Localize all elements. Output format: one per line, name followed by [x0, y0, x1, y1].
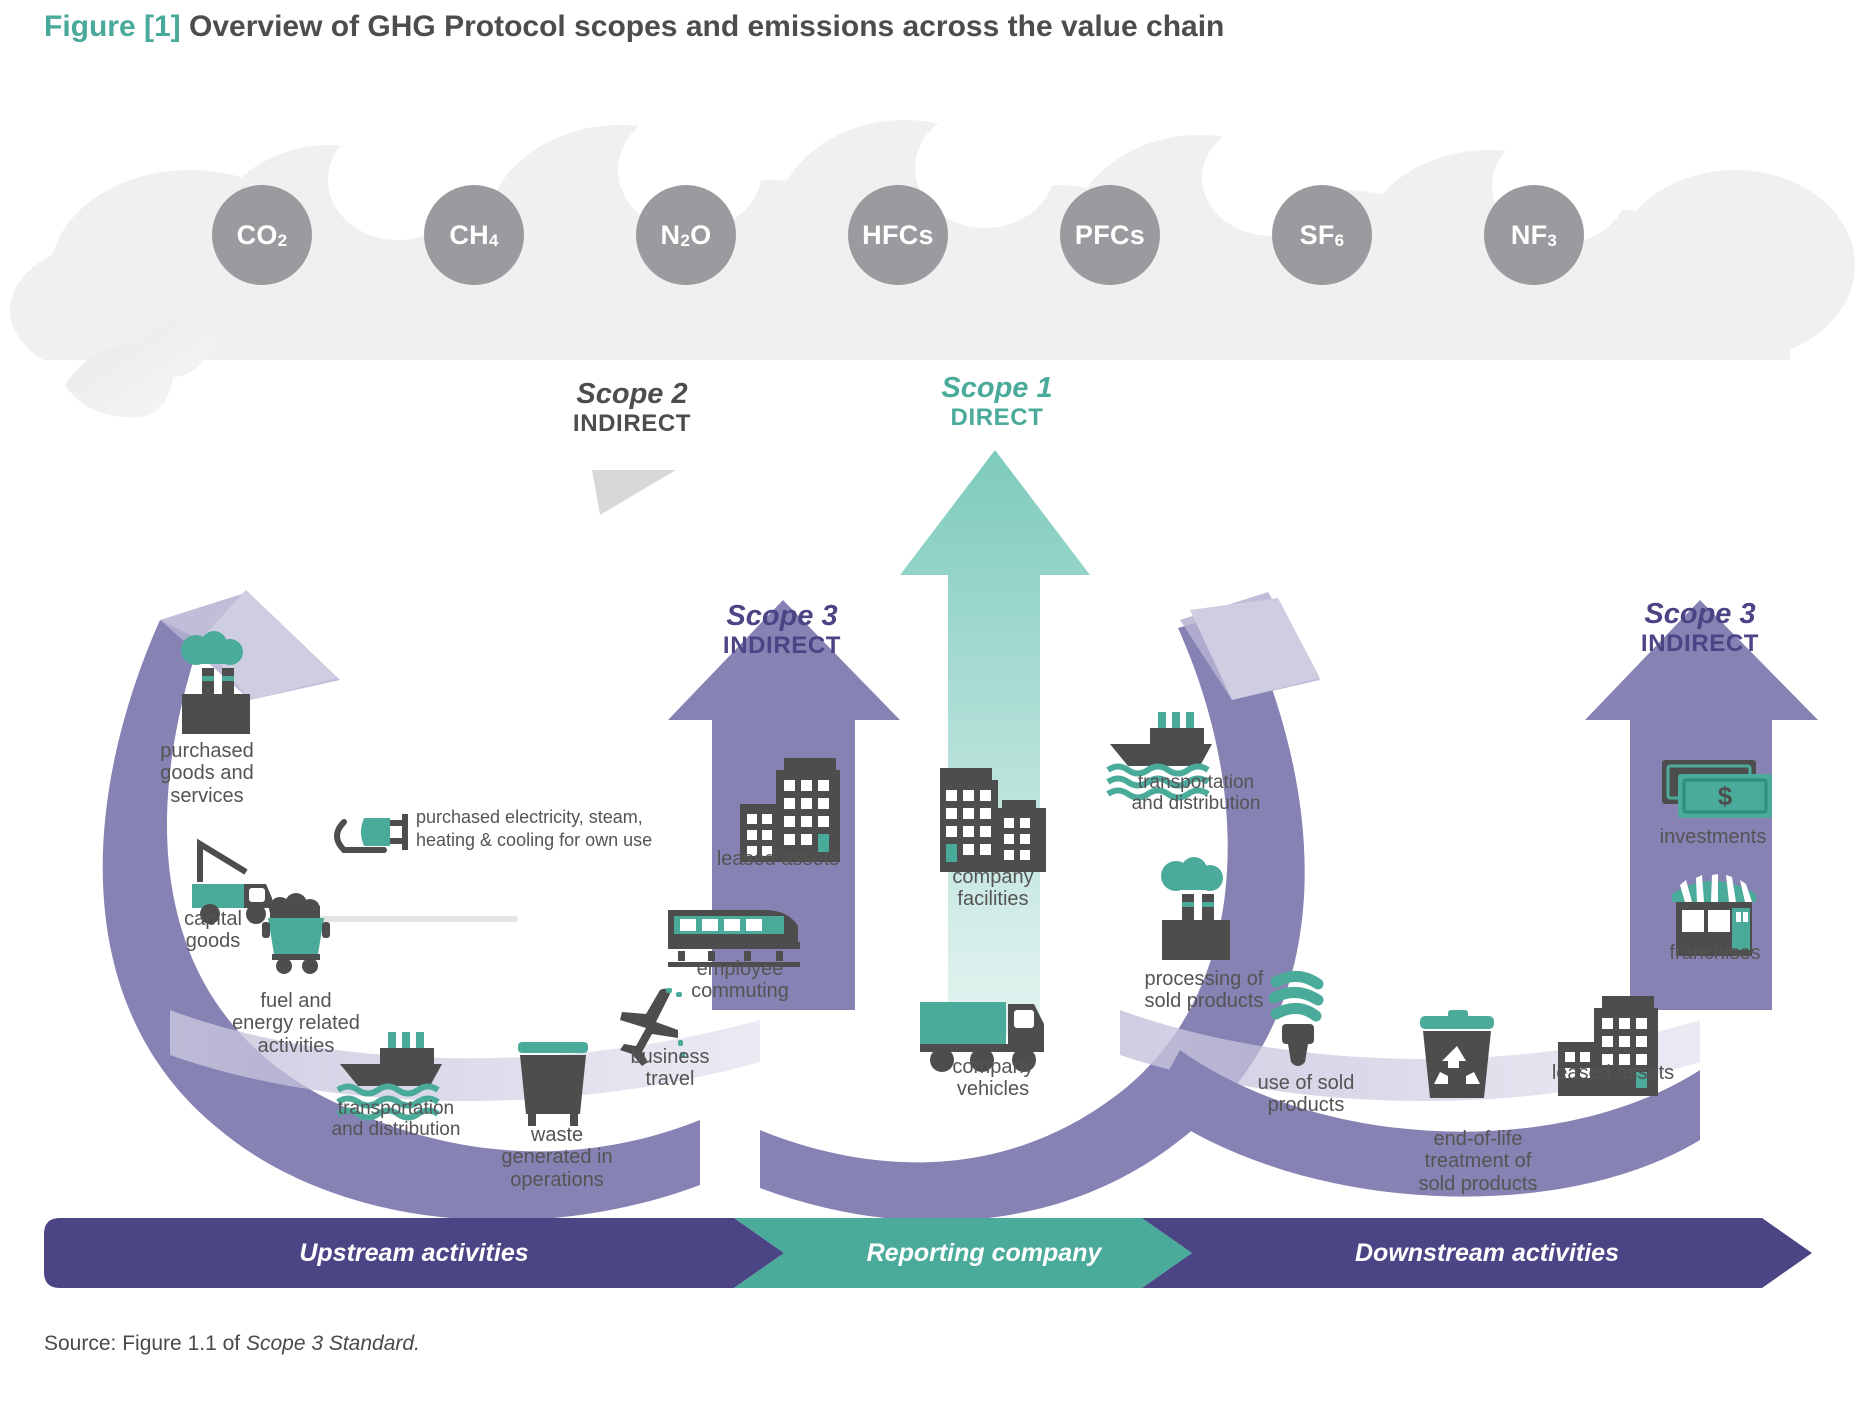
gas-bubble-co2: CO2 [212, 185, 312, 285]
label-downstream-transportation-and-distribution: transportation and distribution [1096, 772, 1296, 815]
label-waste-generated-in-operations: waste generated in operations [462, 1124, 652, 1191]
scope-2-title: Scope 2 [512, 378, 752, 410]
gas-subscript: 4 [489, 231, 499, 251]
scope-1-kind: DIRECT [872, 404, 1122, 432]
scope-2-note: purchased electricity, steam, heating & … [416, 806, 676, 851]
gas-formula: CO [237, 220, 278, 251]
scope-3-downstream-kind: INDIRECT [1580, 630, 1820, 658]
source-italic: Scope 3 Standard. [246, 1332, 420, 1355]
label-company-facilities: company facilities [918, 866, 1068, 911]
gas-formula-tail: O [690, 220, 711, 251]
scope-3-downstream-title: Scope 3 [1580, 598, 1820, 630]
gas-bubble-ch4: CH4 [424, 185, 524, 285]
svg-text:$: $ [1718, 781, 1733, 811]
scope-2-kind: INDIRECT [512, 410, 752, 438]
scope-3-downstream-header: Scope 3 INDIRECT [1580, 598, 1820, 659]
label-purchased-goods-and-services: purchased goods and services [142, 740, 272, 807]
label-processing-of-sold-products: processing of sold products [1114, 968, 1294, 1013]
gas-subscript: 3 [1547, 231, 1557, 251]
label-franchises: franchises [1640, 942, 1790, 964]
gas-subscript: 2 [680, 231, 690, 251]
gas-formula: NF [1511, 220, 1548, 251]
scope-1-header: Scope 1 DIRECT [872, 372, 1122, 433]
gas-subscript: 2 [278, 231, 288, 251]
greenhouse-gas-row: CO2 CH4 N2O HFCs PFCs SF6 NF3 [0, 185, 1864, 285]
banner-downstream-label: Downstream activities [1192, 1218, 1782, 1288]
label-company-vehicles: company vehicles [918, 1056, 1068, 1101]
label-end-of-life-treatment-of-sold-products: end-of-life treatment of sold products [1378, 1128, 1578, 1195]
gas-bubble-pfcs: PFCs [1060, 185, 1160, 285]
value-chain-banner: Upstream activities Reporting company Do… [44, 1218, 1824, 1288]
gas-bubble-nf3: NF3 [1484, 185, 1584, 285]
gas-bubble-sf6: SF6 [1272, 185, 1372, 285]
label-business-travel: business travel [600, 1046, 740, 1091]
source-prefix: Source: Figure 1.1 of [44, 1332, 246, 1355]
label-fuel-and-energy-related-activities: fuel and energy related activities [206, 990, 386, 1057]
gas-formula: N [661, 220, 681, 251]
gas-formula: SF [1300, 220, 1335, 251]
label-investments: investments [1628, 826, 1798, 848]
gas-formula: HFCs [862, 220, 934, 251]
label-capital-goods: capital goods [158, 908, 268, 953]
banner-upstream-label: Upstream activities [44, 1218, 784, 1288]
scope-3-upstream-kind: INDIRECT [662, 632, 902, 660]
scope-2-header: Scope 2 INDIRECT [512, 378, 752, 439]
label-downstream-leased-assets: leased assets [1528, 1062, 1698, 1084]
gas-formula: CH [449, 220, 489, 251]
scope-3-upstream-header: Scope 3 INDIRECT [662, 600, 902, 661]
gas-bubble-hfcs: HFCs [848, 185, 948, 285]
label-upstream-leased-assets: leased assets [688, 848, 868, 870]
gas-formula: PFCs [1075, 220, 1145, 251]
label-employee-commuting: employee commuting [660, 958, 820, 1003]
label-use-of-sold-products: use of sold products [1226, 1072, 1386, 1117]
gas-subscript: 6 [1335, 231, 1345, 251]
gas-bubble-n2o: N2O [636, 185, 736, 285]
source-note: Source: Figure 1.1 of Scope 3 Standard. [44, 1332, 420, 1356]
scope-3-upstream-title: Scope 3 [662, 600, 902, 632]
banner-reporting-company-label: Reporting company [784, 1218, 1184, 1288]
scope-1-title: Scope 1 [872, 372, 1122, 404]
